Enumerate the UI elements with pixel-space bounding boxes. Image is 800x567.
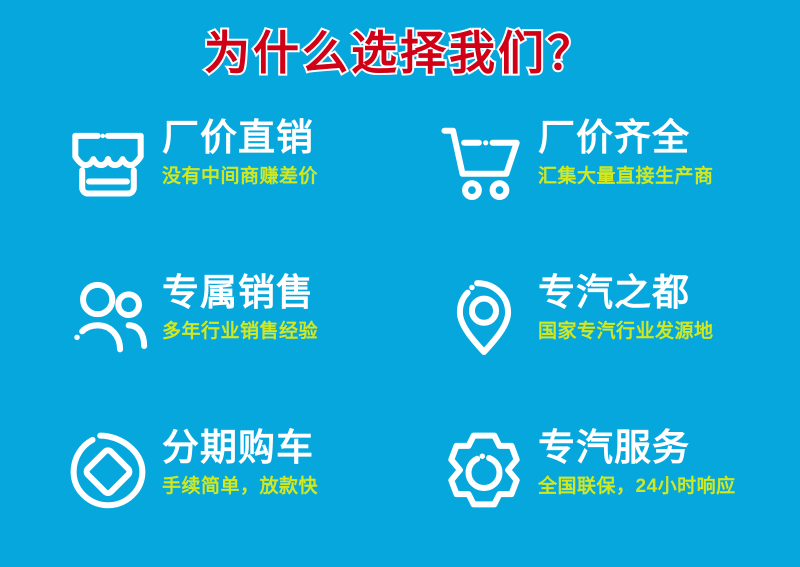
feature-item-1[interactable]: 厂价直销 没有中间商赚差价 xyxy=(0,112,400,267)
feature-item-4[interactable]: 专汽之都 国家专汽行业发源地 xyxy=(400,267,800,422)
feature-subtitle: 手续简单，放款快 xyxy=(162,475,318,499)
feature-subtitle: 汇集大量直接生产商 xyxy=(538,165,714,189)
feature-title: 专汽之都 xyxy=(538,271,714,315)
feature-subtitle: 多年行业销售经验 xyxy=(162,320,318,344)
feature-text-4: 专汽之都 国家专汽行业发源地 xyxy=(538,267,714,344)
feature-text-1: 厂价直销 没有中间商赚差价 xyxy=(162,112,318,189)
feature-text-3: 专属销售 多年行业销售经验 xyxy=(162,267,318,344)
feature-subtitle: 国家专汽行业发源地 xyxy=(538,320,714,344)
page-title: 为什么选择我们？ xyxy=(204,24,596,82)
feature-item-2[interactable]: 厂价齐全 汇集大量直接生产商 xyxy=(400,112,800,267)
feature-title: 分期购车 xyxy=(162,426,318,470)
two-people-icon xyxy=(62,269,154,361)
feature-title: 厂价齐全 xyxy=(538,116,714,160)
map-pin-icon xyxy=(438,269,530,361)
feature-item-3[interactable]: 专属销售 多年行业销售经验 xyxy=(0,267,400,422)
promo-poster: 为什么选择我们？ 厂价直销 没有中间商赚差价 xyxy=(0,0,800,567)
gear-icon xyxy=(438,424,530,516)
storefront-icon xyxy=(62,114,154,206)
feature-grid: 厂价直销 没有中间商赚差价 厂价齐全 汇集大量直接生产商 xyxy=(0,112,800,552)
feature-item-5[interactable]: 分期购车 手续简单，放款快 xyxy=(0,422,400,552)
feature-subtitle: 全国联保，24小时响应 xyxy=(538,475,736,499)
feature-text-2: 厂价齐全 汇集大量直接生产商 xyxy=(538,112,714,189)
headline-container: 为什么选择我们？ xyxy=(0,24,800,82)
feature-title: 厂价直销 xyxy=(162,116,318,160)
feature-subtitle: 没有中间商赚差价 xyxy=(162,165,318,189)
feature-title: 专汽服务 xyxy=(538,426,736,470)
feature-item-6[interactable]: 专汽服务 全国联保，24小时响应 xyxy=(400,422,800,552)
shopping-cart-icon xyxy=(438,114,530,206)
feature-text-5: 分期购车 手续简单，放款快 xyxy=(162,422,318,499)
feature-text-6: 专汽服务 全国联保，24小时响应 xyxy=(538,422,736,499)
circle-diamond-icon xyxy=(62,424,154,516)
feature-title: 专属销售 xyxy=(162,271,318,315)
